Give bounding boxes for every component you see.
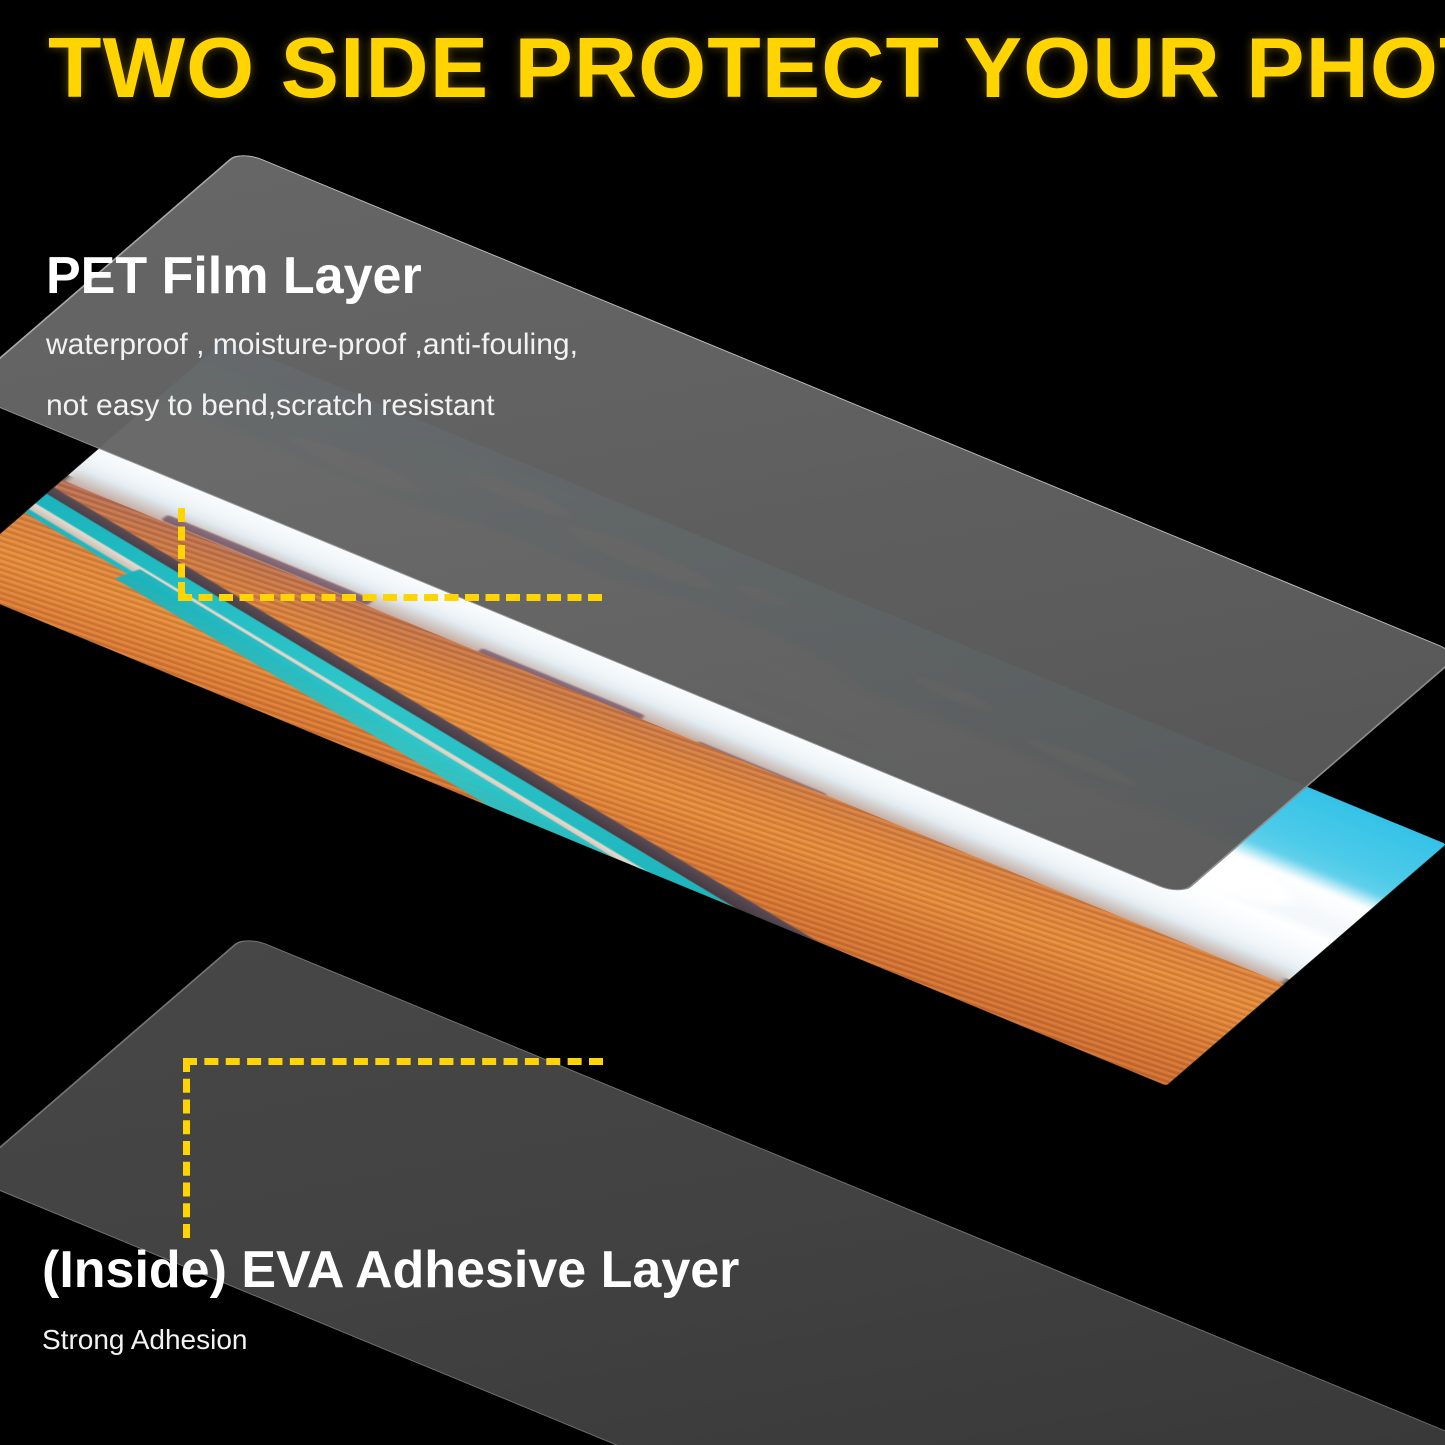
eva-leader-line-horizontal [183, 1058, 603, 1065]
pet-film-layer-description-line-2: not easy to bend,scratch resistant [46, 386, 578, 427]
eva-adhesive-layer-callout: (Inside) EVA Adhesive Layer Strong Adhes… [42, 1242, 739, 1359]
eva-adhesive-layer-description-line-1: Strong Adhesion [42, 1321, 739, 1359]
pet-leader-line-horizontal [178, 594, 602, 601]
pet-leader-line-vertical [178, 508, 185, 596]
pet-film-layer-heading: PET Film Layer [46, 248, 578, 305]
pet-film-layer-description-line-1: waterproof , moisture-proof ,anti-foulin… [46, 325, 578, 366]
eva-leader-line-vertical [183, 1058, 190, 1238]
pet-film-layer-callout: PET Film Layer waterproof , moisture-pro… [46, 248, 578, 427]
page-title: TWO SIDE PROTECT YOUR PHOTO [48, 24, 1445, 113]
product-infographic: TWO SIDE PROTECT YOUR PHOTO [0, 0, 1445, 1445]
eva-adhesive-layer-heading: (Inside) EVA Adhesive Layer [42, 1242, 739, 1299]
